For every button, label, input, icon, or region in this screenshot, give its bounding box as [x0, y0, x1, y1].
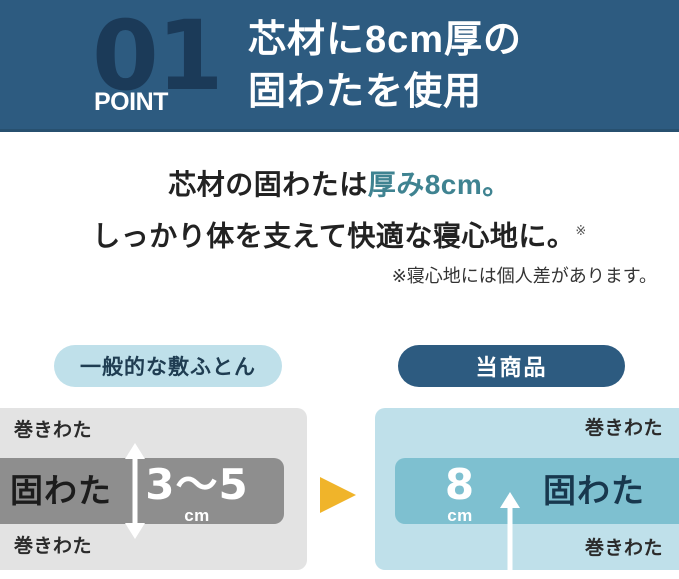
lead-line-1: 芯材の固わたは厚み8cm。 [0, 168, 679, 202]
right-core-band: 8 cm 固わた [395, 458, 679, 524]
comparison-pill-row: 一般的な敷ふとん 当商品 [0, 345, 679, 391]
page-title: 芯材に8cm厚の 固わたを使用 [248, 14, 658, 118]
footnote-marker: ※ [575, 223, 586, 238]
footnote-text: ※寝心地には個人差があります。 [0, 265, 679, 287]
double-arrow-vertical-icon [497, 492, 523, 570]
diagram-this-product: 巻きわた 8 cm 固わた 巻きわた [375, 408, 679, 570]
left-measure-unit: cm [134, 507, 260, 525]
right-measure-value: 8 [423, 464, 497, 506]
lead-thickness-highlight: 厚み8cm [368, 169, 483, 200]
lead-line-1-suffix: 。 [482, 169, 511, 200]
right-measure-unit: cm [423, 507, 497, 525]
right-measure: 8 cm [423, 464, 497, 525]
left-measure-value: 3〜5 [134, 464, 260, 506]
triangle-right-icon [320, 477, 356, 513]
left-wrap-top-label: 巻きわた [14, 419, 92, 443]
point-header-banner: 01 POINT 芯材に8cm厚の 固わたを使用 [0, 0, 679, 132]
point-label: POINT [94, 90, 168, 115]
pill-generic-futon: 一般的な敷ふとん [54, 345, 282, 387]
right-core-label: 固わた [543, 458, 645, 524]
left-core-label: 固わた [10, 458, 112, 524]
double-arrow-vertical-icon [122, 443, 148, 539]
lead-line-2: しっかり体を支えて快適な寝心地に。※ [0, 214, 679, 253]
pill-this-product: 当商品 [398, 345, 625, 387]
left-measure: 3〜5 cm [134, 464, 260, 525]
point-badge: 01 POINT [92, 8, 224, 126]
page-title-line-2: 固わたを使用 [248, 66, 658, 118]
page-title-line-1: 芯材に8cm厚の [248, 14, 658, 66]
right-wrap-top-label: 巻きわた [585, 417, 663, 441]
lead-line-2-text: しっかり体を支えて快適な寝心地に。 [92, 220, 575, 251]
right-wrap-bottom-label: 巻きわた [585, 537, 663, 561]
lead-text-section: 芯材の固わたは厚み8cm。 しっかり体を支えて快適な寝心地に。※ ※寝心地には個… [0, 132, 679, 287]
lead-line-1-prefix: 芯材の固わたは [168, 169, 368, 200]
left-wrap-bottom-label: 巻きわた [14, 535, 92, 559]
diagram-generic-futon: 巻きわた 固わた 3〜5 cm 巻きわた [0, 408, 307, 570]
